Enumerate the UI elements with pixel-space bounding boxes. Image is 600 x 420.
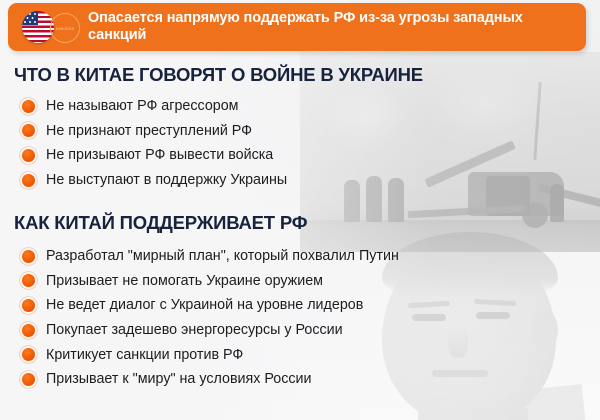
list-item: Разработал "мирный план", который похвал… [22,244,399,269]
bullet-dot-icon [22,299,35,312]
list-item: Не признают преступлений РФ [22,119,287,144]
list-item: Покупает задешево энергоресурсы у России [22,318,399,343]
list-item-label: Критикует санкции против РФ [46,347,243,363]
list-item-label: Не признают преступлений РФ [46,123,252,139]
list-item-label: Не называют РФ агрессором [46,98,239,114]
list-item-label: Не ведет диалог с Украиной на уровне лид… [46,297,363,313]
bullet-dot-icon [22,174,35,187]
bullet-dot-icon [22,274,35,287]
content-area: ЧТО В КИТАЕ ГОВОРЯТ О ВОЙНЕ В УКРАИНЕ Не… [0,0,600,420]
section-title-china-statements: ЧТО В КИТАЕ ГОВОРЯТ О ВОЙНЕ В УКРАИНЕ [14,64,423,86]
list-item: Призывает не помогать Украине оружием [22,269,399,294]
list-item-label: Покупает задешево энергоресурсы у России [46,322,343,338]
bullet-list-china-support: Разработал "мирный план", который похвал… [22,244,399,392]
list-item-label: Разработал "мирный план", который похвал… [46,248,399,264]
list-item: Не призывают РФ вывести войска [22,143,287,168]
list-item: Не выступают в поддержку Украины [22,168,287,193]
bullet-dot-icon [22,348,35,361]
bullet-dot-icon [22,324,35,337]
infographic-root: sanction Опасается напрямую поддержать Р… [0,0,600,420]
list-item-label: Призывает не помогать Украине оружием [46,273,323,289]
bullet-dot-icon [22,124,35,137]
bullet-dot-icon [22,100,35,113]
section-title-china-support: КАК КИТАЙ ПОДДЕРЖИВАЕТ РФ [14,212,307,234]
list-item: Не называют РФ агрессором [22,94,287,119]
bullet-dot-icon [22,250,35,263]
bullet-dot-icon [22,373,35,386]
list-item: Призывает к "миру" на условиях России [22,367,399,392]
list-item: Критикует санкции против РФ [22,342,399,367]
list-item-label: Не призывают РФ вывести войска [46,147,273,163]
bullet-list-china-statements: Не называют РФ агрессором Не признают пр… [22,94,287,192]
bullet-dot-icon [22,149,35,162]
list-item-label: Призывает к "миру" на условиях России [46,371,312,387]
list-item: Не ведет диалог с Украиной на уровне лид… [22,293,399,318]
list-item-label: Не выступают в поддержку Украины [46,172,287,188]
